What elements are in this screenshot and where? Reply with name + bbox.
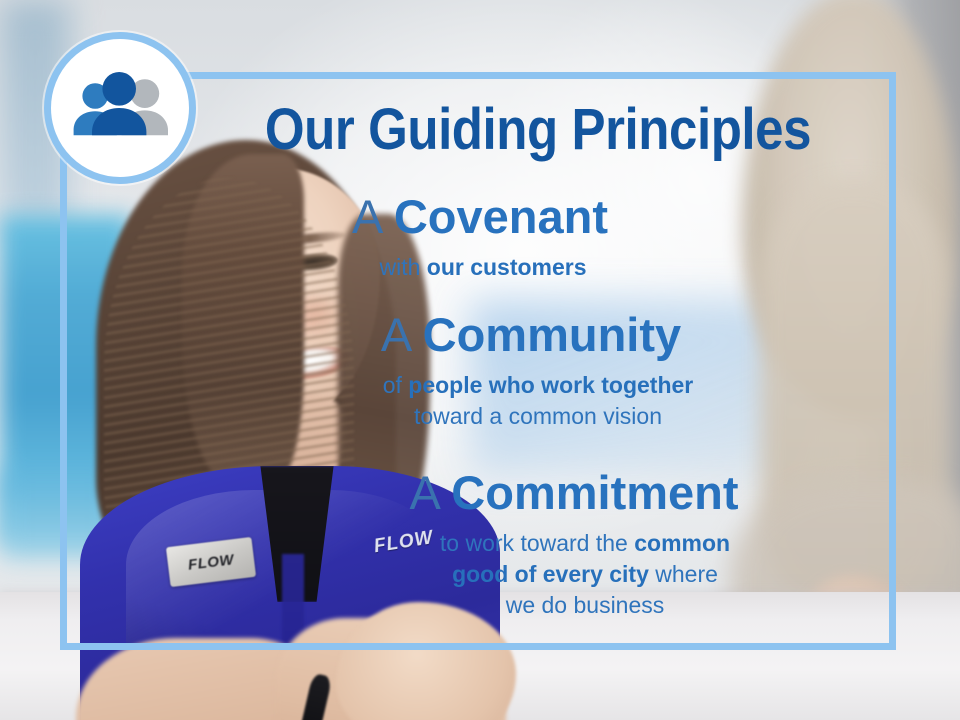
subline-normal: with xyxy=(379,254,426,280)
subline-normal-after: where xyxy=(649,561,718,587)
principle-covenant: A Covenant with our customers xyxy=(60,190,896,283)
principle-community-subtext: of people who work together toward a com… xyxy=(60,370,896,432)
poster-text-block: Our Guiding Principles A Covenant with o… xyxy=(60,72,896,650)
principle-community-heading: A Community xyxy=(60,308,896,362)
principle-commitment: A Commitment to work toward the common g… xyxy=(60,466,896,621)
principle-commitment-subline-3: we do business xyxy=(274,590,896,621)
principle-community-article: A xyxy=(381,308,410,361)
poster-title: Our Guiding Principles xyxy=(256,100,819,160)
principle-commitment-subline-2: good of every city where xyxy=(274,559,896,590)
principle-commitment-heading: A Commitment xyxy=(60,466,896,520)
principle-commitment-subtext: to work toward the common good of every … xyxy=(60,528,896,621)
subline-normal: of xyxy=(383,372,409,398)
subline-normal: to work toward the xyxy=(440,530,634,556)
principle-community-keyword: Community xyxy=(423,308,682,361)
poster-canvas: FLOW FLOW Our Guiding Principles A xyxy=(0,0,960,720)
principle-community: A Community of people who work together … xyxy=(60,308,896,432)
subline-bold: common xyxy=(634,530,730,556)
subline-bold: our customers xyxy=(427,254,587,280)
principle-covenant-article: A xyxy=(352,190,381,243)
principle-commitment-article: A xyxy=(409,466,438,519)
subline-normal: we do business xyxy=(506,592,665,618)
principle-commitment-subline-1: to work toward the common xyxy=(274,528,896,559)
principle-commitment-keyword: Commitment xyxy=(451,466,738,519)
principle-community-subline-1: of people who work together xyxy=(180,370,896,401)
subline-normal: toward a common vision xyxy=(414,403,662,429)
subline-bold: people who work together xyxy=(408,372,693,398)
subline-bold: good of every city xyxy=(452,561,649,587)
principle-community-subline-2: toward a common vision xyxy=(180,401,896,432)
principle-covenant-keyword: Covenant xyxy=(394,190,608,243)
principle-covenant-heading: A Covenant xyxy=(60,190,896,244)
principle-covenant-subline-1: with our customers xyxy=(70,252,896,283)
principle-covenant-subtext: with our customers xyxy=(60,252,896,283)
